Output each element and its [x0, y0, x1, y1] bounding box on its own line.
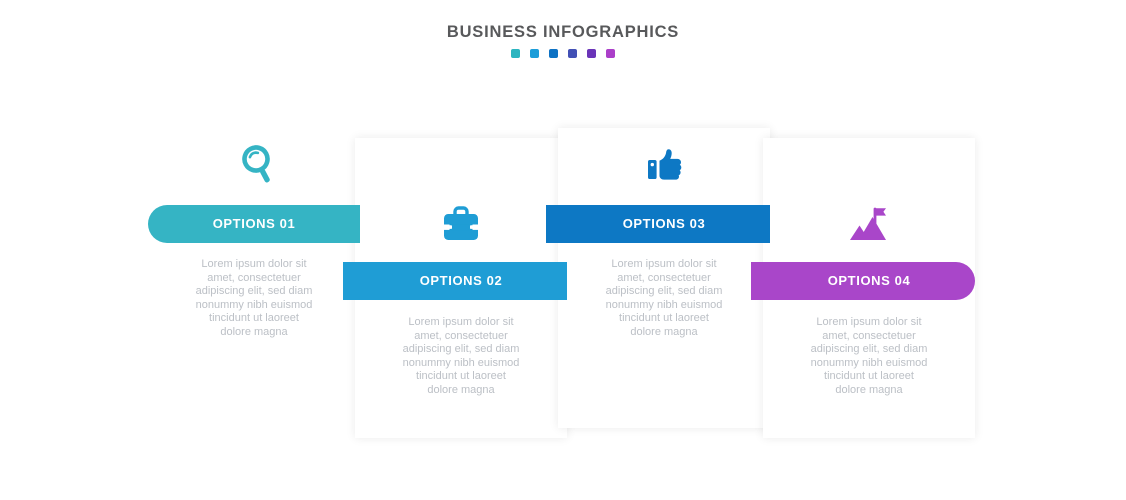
- card-options-01[interactable]: Lorem ipsum dolor sit amet, consectetuer…: [148, 128, 360, 428]
- icon-slot-3: [558, 138, 770, 190]
- card-body-1: Lorem ipsum dolor sit amet, consectetuer…: [148, 258, 360, 339]
- dot-4-icon: [568, 49, 577, 58]
- thumbs-up-icon: [641, 143, 687, 185]
- dot-6-icon: [606, 49, 615, 58]
- banner-label-2: OPTIONS 02: [355, 262, 567, 300]
- banner-label-3: OPTIONS 03: [558, 205, 770, 243]
- banner-options-04[interactable]: OPTIONS 04: [751, 262, 975, 300]
- banner-options-01[interactable]: OPTIONS 01: [148, 205, 360, 243]
- icon-slot-1: [148, 138, 360, 190]
- infographic-canvas: BUSINESS INFOGRAPHICS Lorem ipsum dolor …: [0, 0, 1126, 500]
- page-title: BUSINESS INFOGRAPHICS: [0, 22, 1126, 42]
- banner-options-03[interactable]: OPTIONS 03: [546, 205, 770, 243]
- icon-slot-4: [763, 198, 975, 250]
- banner-label-4: OPTIONS 04: [763, 262, 975, 300]
- banner-label-1: OPTIONS 01: [148, 205, 360, 243]
- magnifier-icon: [232, 141, 276, 187]
- card-options-03[interactable]: Lorem ipsum dolor sit amet, consectetuer…: [558, 128, 770, 428]
- header: BUSINESS INFOGRAPHICS: [0, 22, 1126, 58]
- banner-fold-3: [546, 243, 558, 251]
- briefcase-icon: [438, 203, 484, 245]
- mountain-flag-icon: [845, 203, 893, 245]
- dot-3-icon: [549, 49, 558, 58]
- card-body-4: Lorem ipsum dolor sit amet, consectetuer…: [763, 316, 975, 397]
- card-body-2: Lorem ipsum dolor sit amet, consectetuer…: [355, 316, 567, 397]
- card-body-3: Lorem ipsum dolor sit amet, consectetuer…: [558, 258, 770, 339]
- banner-fold-2: [343, 300, 355, 308]
- banner-options-02[interactable]: OPTIONS 02: [343, 262, 567, 300]
- banner-fold-4: [751, 300, 763, 308]
- icon-slot-2: [355, 198, 567, 250]
- dot-5-icon: [587, 49, 596, 58]
- dot-1-icon: [511, 49, 520, 58]
- dot-2-icon: [530, 49, 539, 58]
- header-dot-row: [0, 49, 1126, 58]
